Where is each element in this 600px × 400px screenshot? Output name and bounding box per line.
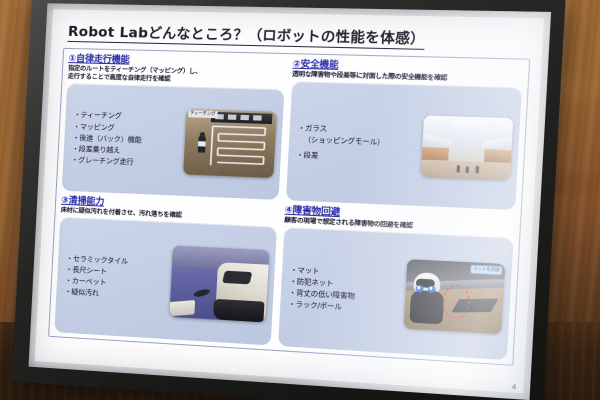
section-2-bullet-list: ・ガラス （ショッピングモール） ・段差 [292, 87, 387, 199]
slide-content-frame: ①自律走行機能 指定のルートをティーチング（マッピング）し、 走行することで高度… [48, 48, 530, 366]
cleaning-robot-photo [169, 245, 269, 322]
list-item: ・グレーチング走行 [71, 156, 140, 167]
presentation-slide: Robot Labどんなところ？（ロボットの性能を体感） ①自律走行機能 指定の… [35, 9, 544, 393]
route-path-icon [206, 124, 269, 169]
floor-kerb [169, 300, 195, 316]
list-item: ・マット [290, 266, 356, 278]
list-item: ・後進（バック）機能 [72, 133, 141, 144]
photo-caption-label: マットを回避 [470, 264, 503, 275]
list-item: ・段差乗り越え [72, 144, 141, 155]
monitor-screen: Robot Labどんなところ？（ロボットの性能を体感） ①自律走行機能 指定の… [29, 3, 552, 400]
service-robot [409, 272, 445, 324]
list-item: ・ラック/ポール [288, 300, 354, 312]
person-figure [465, 166, 469, 172]
section-obstacle-avoidance: ④障害物回避 顧客の現場で想定される障害物の回避を確認 ・マット ・防犯ネット … [278, 205, 515, 360]
section-1-panel: ・ティーチング ・マッピング ・後進（バック）機能 ・段差乗り越え ・グレーチン… [62, 83, 284, 200]
section-3-bullet-list: ・セラミックタイル ・長尺シート ・カーペット ・疑似汚れ [61, 222, 130, 331]
list-item-sub: （ショッピングモール） [297, 135, 385, 146]
cleaning-machine-base [212, 298, 264, 321]
section-2-panel: ・ガラス （ショッピングモール） ・段差 [285, 81, 522, 210]
robot-eye-left [416, 285, 424, 293]
teaching-route-photo: ティーチング [183, 109, 277, 178]
list-item: ・マッピング [73, 122, 142, 132]
robot-body [409, 290, 444, 324]
monitor-display: Robot Labどんなところ？（ロボットの性能を体感） ①自律走行機能 指定の… [12, 0, 566, 400]
robot-eye-right [428, 285, 436, 293]
section-cleaning-ability: ③清掃能力 床材に疑似汚れを付着させ、汚れ落ちを確認 ・セラミックタイル ・長尺… [54, 196, 277, 346]
section-safety-function: ②安全機能 透明な障害物や段差等に対面した際の安全機能を確認 ・ガラス （ショッ… [285, 59, 523, 210]
shopping-mall-photo [421, 115, 514, 180]
section-autonomous-driving: ①自律走行機能 指定のルートをティーチング（マッピング）し、 走行することで高度… [62, 54, 286, 200]
section-1-bullet-list: ・ティーチング ・マッピング ・後進（バック）機能 ・段差乗り越え ・グレーチン… [68, 89, 144, 189]
section-4-bullet-list: ・マット ・防犯ネット ・背丈の低い障害物 ・ラック/ポール [284, 233, 358, 345]
list-item: ・段差 [296, 151, 384, 163]
obstacle-avoidance-photo: マットを回避 [404, 259, 506, 334]
list-item: ・疑似汚れ [64, 288, 126, 300]
list-item: ・防犯ネット [289, 277, 355, 289]
list-item: ・ガラス [298, 123, 386, 134]
list-item: ・セラミックタイル [66, 254, 128, 265]
person-figure [456, 165, 460, 173]
photo-scene: Robot Labどんなところ？（ロボットの性能を体感） ①自律走行機能 指定の… [0, 0, 600, 400]
page-number: 4 [511, 383, 517, 392]
list-item: ・背丈の低い障害物 [289, 289, 355, 301]
page-title: Robot Labどんなところ？（ロボットの性能を体感） [67, 20, 425, 50]
list-item: ・ティーチング [74, 111, 143, 121]
list-item: ・長尺シート [65, 265, 127, 276]
section-3-panel: ・セラミックタイル ・長尺シート ・カーペット ・疑似汚れ [54, 217, 276, 345]
section-4-panel: ・マット ・防犯ネット ・背丈の低い障害物 ・ラック/ポール [278, 227, 514, 360]
shelf-rack [210, 111, 272, 123]
list-item: ・カーペット [65, 277, 127, 288]
photo-caption-label: ティーチング [188, 110, 218, 118]
mall-skylight [448, 119, 486, 135]
person-figure [197, 136, 205, 153]
sections-grid: ①自律走行機能 指定のルートをティーチング（マッピング）し、 走行することで高度… [54, 54, 523, 360]
person-figure [475, 165, 479, 173]
